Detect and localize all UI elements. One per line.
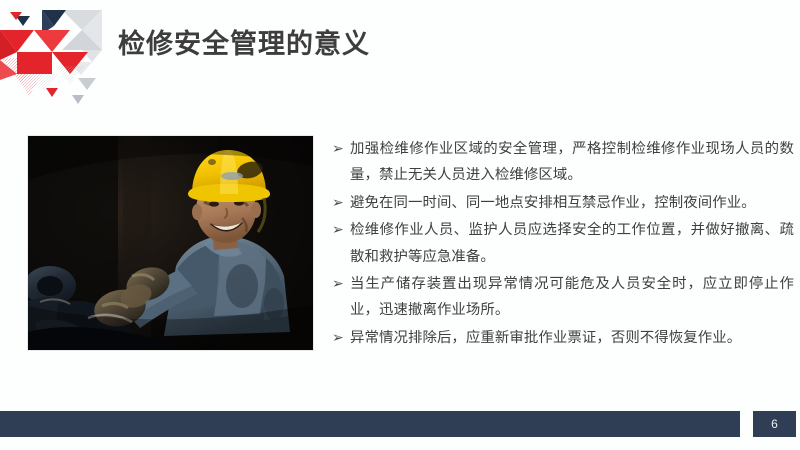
deco-triangle-red-small-2 (46, 88, 58, 97)
list-item: ➢ 检维修作业人员、监护人员应选择安全的工作位置，并做好撤离、疏散和救护等应急准… (332, 217, 794, 270)
list-item: ➢ 当生产储存装置出现异常情况可能危及人员安全时，应立即停止作业，迅速撤离作业场… (332, 271, 794, 324)
list-item-text: 加强检维修作业区域的安全管理，严格控制检维修作业现场人员的数量，禁止无关人员进入… (350, 136, 794, 189)
deco-triangle-red-6 (0, 60, 17, 80)
footer-bar (0, 411, 740, 437)
deco-triangle-red-2 (0, 30, 17, 60)
deco-triangle-red-small-1 (10, 12, 22, 20)
deco-triangle-gray-2 (82, 10, 102, 50)
deco-triangle-red-5 (52, 52, 88, 74)
list-item: ➢ 加强检维修作业区域的安全管理，严格控制检维修作业现场人员的数量，禁止无关人员… (332, 136, 794, 189)
deco-triangle-hatched-red-2 (14, 72, 44, 96)
deco-triangle-gray-4 (82, 50, 102, 62)
list-item: ➢ 避免在同一时间、同一地点安排相互禁忌作业，控制夜间作业。 (332, 190, 794, 216)
list-item-text: 异常情况排除后，应重新审批作业票证，否则不得恢复作业。 (350, 325, 794, 351)
deco-triangle-gray-small-1 (72, 95, 84, 104)
page-number-badge: 6 (753, 411, 796, 437)
arrow-bullet-icon: ➢ (332, 190, 350, 216)
list-item-text: 检维修作业人员、监护人员应选择安全的工作位置，并做好撤离、疏散和救护等应急准备。 (350, 217, 794, 270)
header-decoration-graphic (0, 0, 120, 115)
arrow-bullet-icon: ➢ (332, 136, 350, 162)
deco-triangle-gray-6 (78, 78, 96, 90)
list-item-text: 避免在同一时间、同一地点安排相互禁忌作业，控制夜间作业。 (350, 190, 794, 216)
deco-triangle-gray-3 (62, 30, 102, 50)
bullet-list: ➢ 加强检维修作业区域的安全管理，严格控制检维修作业现场人员的数量，禁止无关人员… (332, 136, 794, 352)
worker-photo (28, 136, 313, 350)
slide: 检修安全管理的意义 (0, 0, 800, 450)
page-title: 检修安全管理的意义 (118, 22, 370, 61)
deco-triangle-hatched-gray (30, 74, 58, 92)
deco-triangle-gray-5 (70, 62, 92, 75)
list-item-text: 当生产储存装置出现异常情况可能危及人员安全时，应立即停止作业，迅速撤离作业场所。 (350, 271, 794, 324)
deco-triangle-red-4 (34, 30, 70, 52)
deco-shape-red-3 (17, 52, 52, 74)
arrow-bullet-icon: ➢ (332, 325, 350, 351)
arrow-bullet-icon: ➢ (332, 271, 350, 297)
deco-triangle-navy-2 (42, 10, 54, 34)
deco-triangle-navy-3 (16, 16, 30, 26)
deco-triangle-red-1 (0, 30, 34, 52)
list-item: ➢ 异常情况排除后，应重新审批作业票证，否则不得恢复作业。 (332, 325, 794, 351)
deco-triangle-navy-1 (42, 10, 66, 26)
arrow-bullet-icon: ➢ (332, 217, 350, 243)
deco-triangle-hatched-gray-2 (56, 66, 84, 84)
deco-triangle-hatched-red (2, 58, 40, 84)
deco-triangle-gray-1 (62, 10, 102, 30)
